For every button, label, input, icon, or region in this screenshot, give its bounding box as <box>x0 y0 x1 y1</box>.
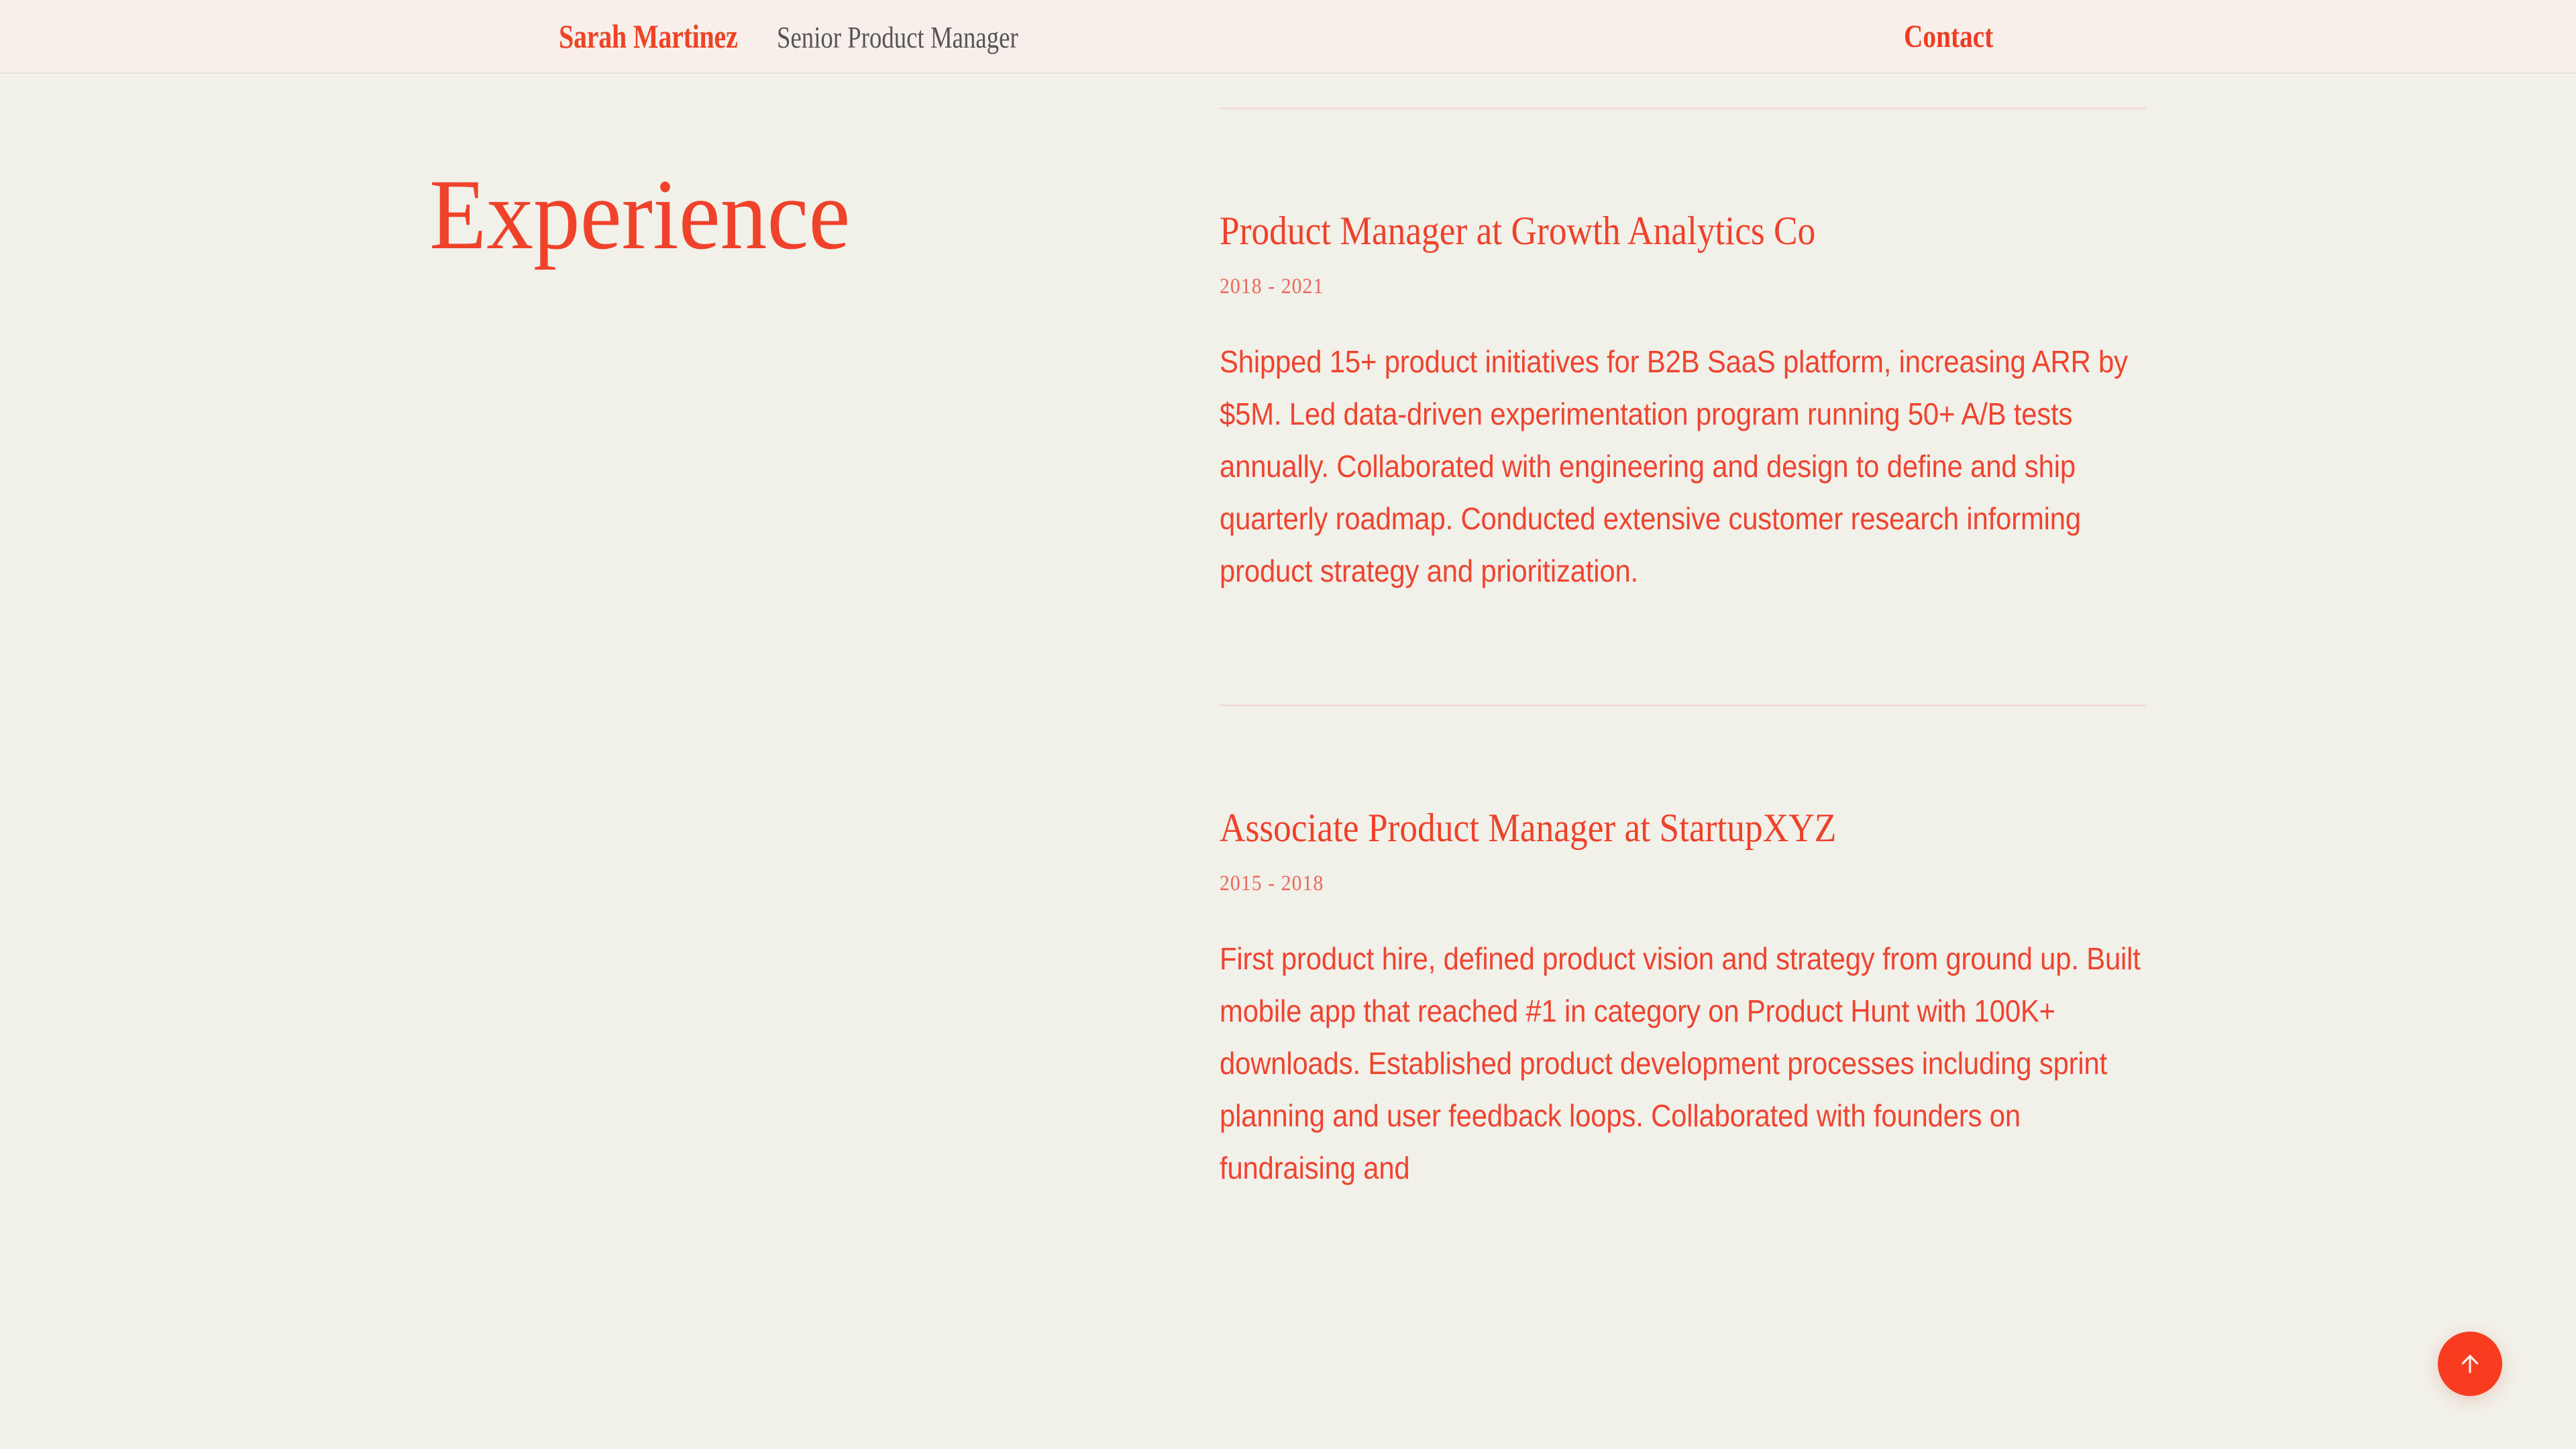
experience-dates: 2015 - 2018 <box>1220 871 2059 896</box>
page-title: Experience <box>429 164 850 265</box>
experience-entry: Associate Product Manager at StartupXYZ … <box>1220 706 2152 1301</box>
experience-title: Associate Product Manager at StartupXYZ <box>1220 807 2049 849</box>
brand-role: Senior Product Manager <box>777 19 1018 55</box>
site-header: Sarah Martinez Senior Product Manager Co… <box>0 0 2576 74</box>
brand[interactable]: Sarah Martinez Senior Product Manager <box>559 17 1079 56</box>
brand-name: Sarah Martinez <box>559 17 738 56</box>
experience-dates: 2018 - 2021 <box>1220 274 2059 299</box>
experience-description: First product hire, defined product visi… <box>1220 932 2153 1194</box>
experience-list: engineers, designers, and analysts. Defi… <box>1220 0 2152 1301</box>
arrow-up-icon <box>2457 1350 2483 1377</box>
experience-title: Product Manager at Growth Analytics Co <box>1220 210 2049 252</box>
scroll-to-top-button[interactable] <box>2438 1332 2502 1396</box>
experience-entry: Product Manager at Growth Analytics Co 2… <box>1220 109 2152 706</box>
experience-description: Shipped 15+ product initiatives for B2B … <box>1220 335 2153 597</box>
portfolio-page: engineers, designers, and analysts. Defi… <box>0 0 2576 1449</box>
